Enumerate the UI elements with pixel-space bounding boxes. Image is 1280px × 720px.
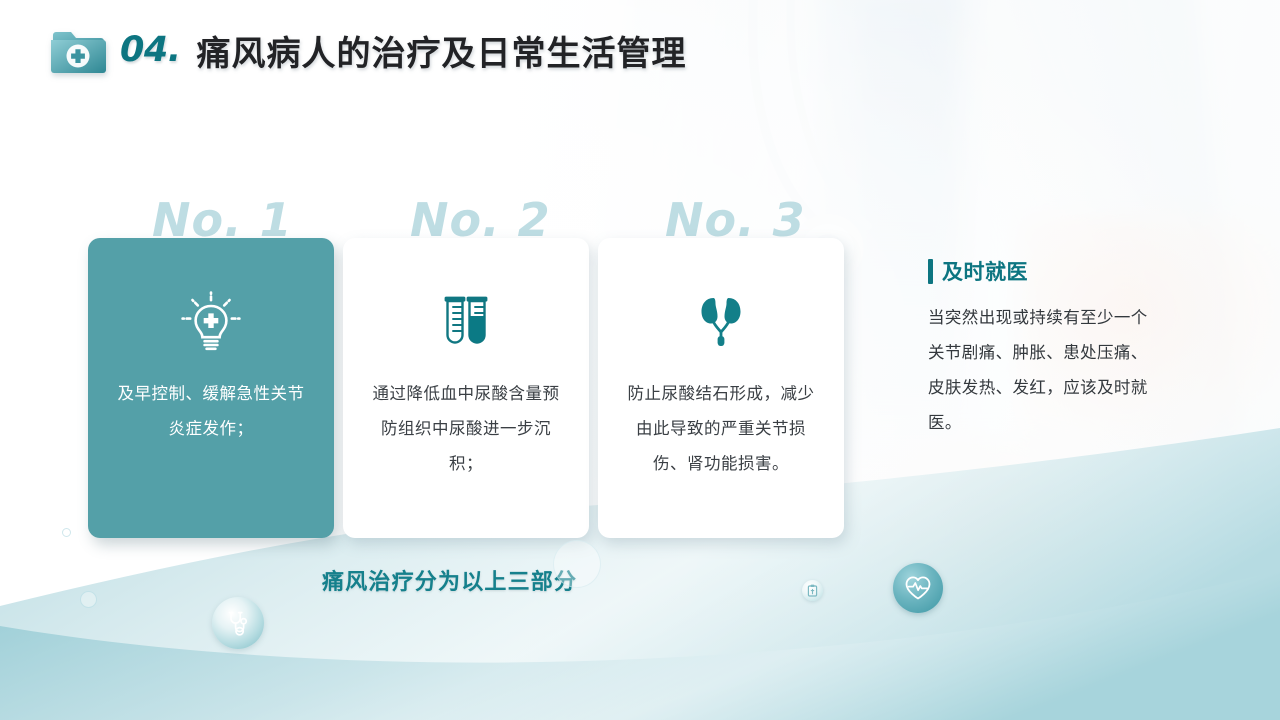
clipboard-bubble [802,580,823,601]
treatment-card-2-text: 通过降低血中尿酸含量预防组织中尿酸进一步沉积； [343,376,589,481]
folder-plus-icon [50,24,106,76]
treatment-card-2[interactable]: 通过降低血中尿酸含量预防组织中尿酸进一步沉积； [343,238,589,538]
lightbulb-plus-icon [180,274,242,370]
side-panel-body: 当突然出现或持续有至少一个关节剧痛、肿胀、患处压痛、皮肤发热、发红，应该及时就医… [928,300,1156,440]
treatment-card-3-text: 防止尿酸结石形成，减少由此导致的严重关节损伤、肾功能损害。 [598,376,844,481]
summary-caption: 痛风治疗分为以上三部分 [322,564,577,596]
accent-bar [928,259,933,284]
page-title: 痛风病人的治疗及日常生活管理 [197,26,687,75]
clipboard-icon [807,584,818,597]
slide-header: 04. 痛风病人的治疗及日常生活管理 [50,24,687,76]
treatment-card-1[interactable]: 及早控制、缓解急性关节炎症发作； [88,238,334,538]
decor-ring-small-a [80,591,97,608]
heartbeat-bubble [893,563,943,613]
stethoscope-bubble [212,597,264,649]
test-tubes-icon [440,274,492,370]
side-panel-header: 及时就医 [928,256,1168,286]
decor-ring-tiny-b [62,528,71,537]
decor-ring-large-c [553,540,601,588]
side-panel-title: 及时就医 [942,256,1028,286]
slide-canvas: 04. 痛风病人的治疗及日常生活管理 No. 1 No. 2 No. 3 及早控… [0,0,1280,720]
stethoscope-icon [225,609,251,637]
section-number: 04. [120,30,181,70]
heart-pulse-icon [904,575,932,601]
side-panel: 及时就医 当突然出现或持续有至少一个关节剧痛、肿胀、患处压痛、皮肤发热、发红，应… [928,256,1168,440]
treatment-card-1-text: 及早控制、缓解急性关节炎症发作； [88,376,334,446]
treatment-card-3[interactable]: 防止尿酸结石形成，减少由此导致的严重关节损伤、肾功能损害。 [598,238,844,538]
kidneys-icon [692,274,750,370]
